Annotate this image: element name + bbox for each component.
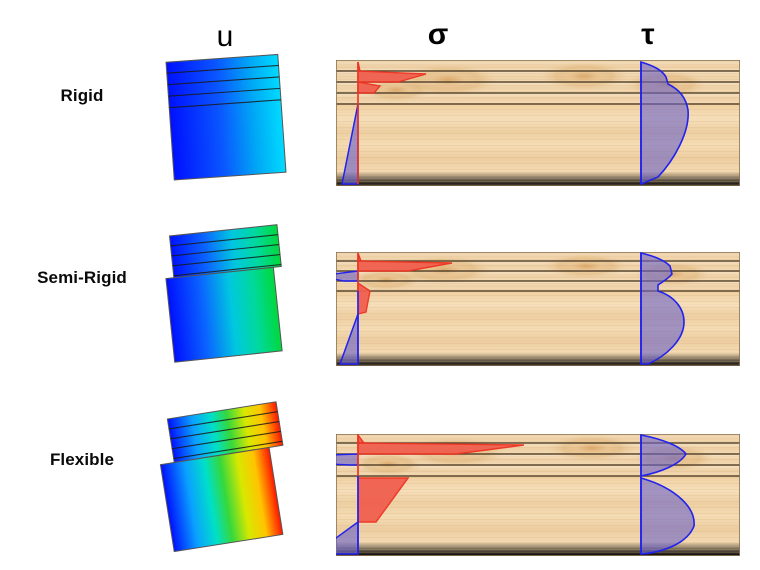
column-header-displacement: u <box>180 22 270 52</box>
stress-panel-sigma-flexible <box>336 434 740 556</box>
row-label-rigid: Rigid <box>8 86 156 106</box>
figure-root: u σ τ Rigid Semi-Rigid Flexible <box>0 0 760 570</box>
stress-panel-sigma-semi-rigid <box>336 252 740 366</box>
column-header-normal-stress: σ <box>398 20 478 50</box>
stress-panel-sigma-rigid <box>336 60 740 186</box>
row-label-semi-rigid: Semi-Rigid <box>8 268 156 288</box>
row-label-flexible: Flexible <box>8 450 156 470</box>
deformation-block-rigid <box>164 52 294 182</box>
deformation-block-semi-rigid <box>160 222 300 368</box>
deformation-block-flexible <box>152 406 308 558</box>
column-header-shear-stress: τ <box>608 20 688 50</box>
